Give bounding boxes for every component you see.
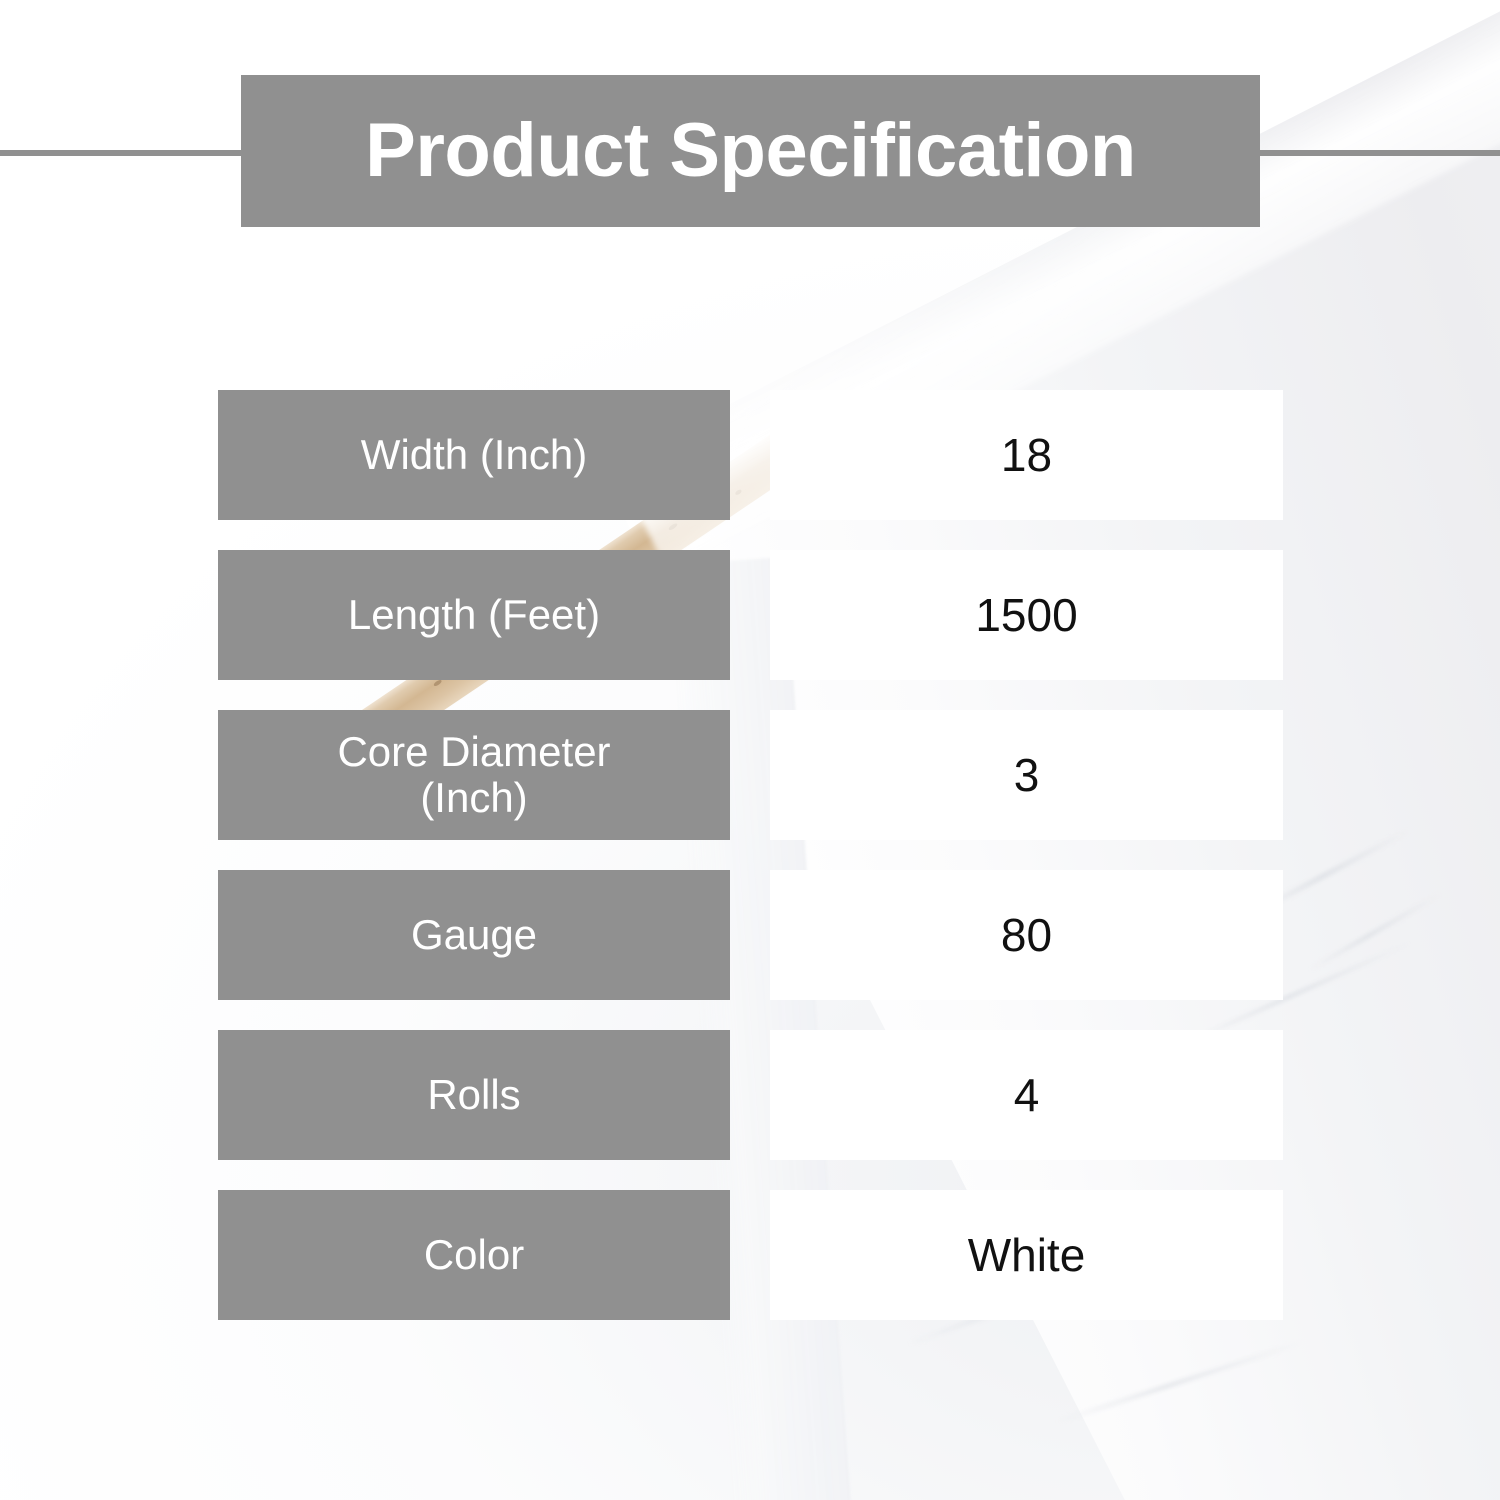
row-gap [730, 390, 770, 520]
spec-label-length: Length (Feet) [218, 550, 730, 680]
row-gap [730, 1030, 770, 1160]
page-title: Product Specification [365, 113, 1136, 189]
row-gap [730, 1190, 770, 1320]
spec-value-core-diameter: 3 [770, 710, 1283, 840]
spec-value-width: 18 [770, 390, 1283, 520]
header: Product Specification [0, 0, 1500, 300]
table-row: Width (Inch) 18 [218, 390, 1283, 520]
spec-label-gauge: Gauge [218, 870, 730, 1000]
row-gap [730, 870, 770, 1000]
spec-value-length: 1500 [770, 550, 1283, 680]
spec-label-width: Width (Inch) [218, 390, 730, 520]
spec-label-core-diameter-line1: Core Diameter [337, 728, 610, 775]
table-row: Core Diameter (Inch) 3 [218, 710, 1283, 840]
table-row: Color White [218, 1190, 1283, 1320]
spec-value-color: White [770, 1190, 1283, 1320]
product-specification-table: Width (Inch) 18 Length (Feet) 1500 Core … [218, 390, 1283, 1320]
spec-label-rolls: Rolls [218, 1030, 730, 1160]
table-row: Rolls 4 [218, 1030, 1283, 1160]
spec-value-rolls: 4 [770, 1030, 1283, 1160]
spec-label-core-diameter: Core Diameter (Inch) [218, 710, 730, 840]
row-gap [730, 710, 770, 840]
row-gap [730, 550, 770, 680]
title-banner: Product Specification [241, 75, 1260, 227]
spec-label-core-diameter-line2: (Inch) [420, 774, 527, 821]
table-row: Length (Feet) 1500 [218, 550, 1283, 680]
spec-label-color: Color [218, 1190, 730, 1320]
table-row: Gauge 80 [218, 870, 1283, 1000]
spec-value-gauge: 80 [770, 870, 1283, 1000]
